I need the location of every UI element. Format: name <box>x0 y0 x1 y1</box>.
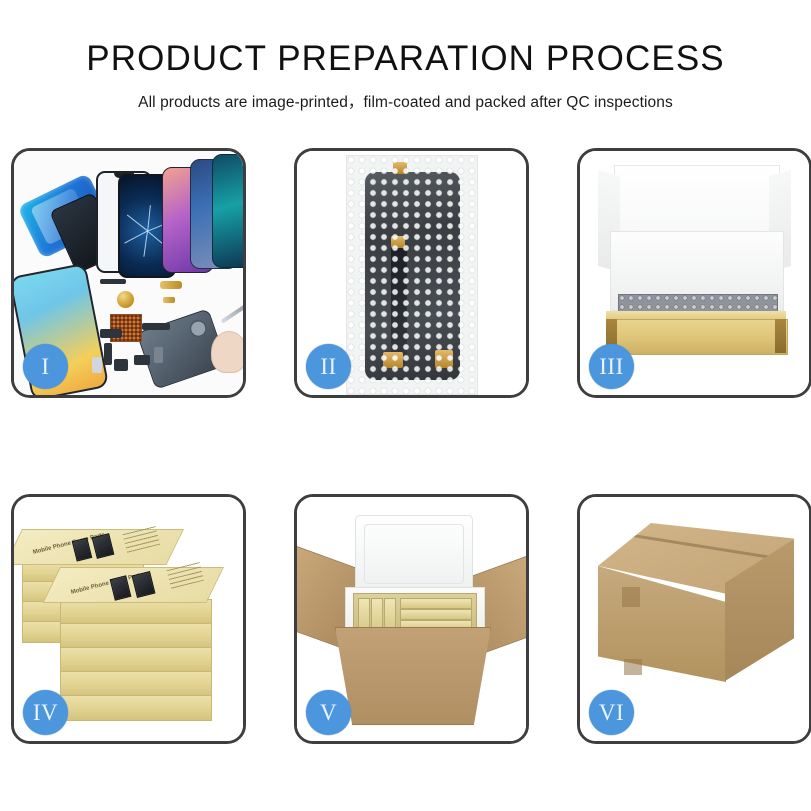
process-step-panel-3[interactable]: III <box>577 148 811 398</box>
small-part-ribbon <box>142 323 170 330</box>
step-badge-3: III <box>589 344 634 389</box>
carton-body <box>335 627 491 725</box>
small-part-speaker <box>114 359 128 371</box>
stacked-box-front-5 <box>60 671 212 697</box>
step-badge-2: II <box>306 344 351 389</box>
small-part-camera-module <box>100 329 122 338</box>
step-badge-6: VI <box>589 690 634 735</box>
gold-vibration-motor <box>117 291 134 308</box>
small-part-flex-cable <box>104 343 112 365</box>
teal-phone-display <box>212 154 243 268</box>
step-badge-5: V <box>306 690 351 735</box>
process-step-panel-6[interactable]: VI <box>577 494 811 744</box>
small-part-battery-connector <box>154 347 163 363</box>
gold-connector-lower-left <box>383 352 403 368</box>
page-title: PRODUCT PREPARATION PROCESS <box>0 41 811 78</box>
small-part-earpiece <box>100 279 126 284</box>
process-step-panel-4[interactable]: Mobile Phone Spare Parts Mobile Phone Sp… <box>11 494 246 744</box>
stacked-box-front-3 <box>60 623 212 649</box>
small-part-button <box>134 355 150 365</box>
small-part-sim-tray <box>92 357 102 373</box>
packed-box-5 <box>400 609 472 620</box>
gold-connector-mid <box>391 236 405 248</box>
process-step-panel-5[interactable]: V <box>294 494 529 744</box>
stacked-box-front-4 <box>60 647 212 673</box>
box-right-tab <box>775 319 786 353</box>
carton-tape-lower <box>624 659 642 675</box>
carton-tape-upper <box>622 587 640 607</box>
foam-box-lid <box>355 515 473 593</box>
small-part-gold-flex <box>160 281 182 289</box>
step-badge-4: IV <box>23 690 68 735</box>
gold-connector-lower-right <box>435 350 453 368</box>
wrapped-flex-cable <box>391 246 407 364</box>
bubble-wrap-bag <box>346 155 478 395</box>
process-step-grid: I II <box>11 148 800 744</box>
gold-connector-top <box>393 162 407 174</box>
step-badge-1: I <box>23 344 68 389</box>
wrapped-lcd-screen <box>365 172 460 380</box>
page-subtitle: All products are image-printed，film-coat… <box>0 90 811 112</box>
process-step-panel-2[interactable]: II <box>294 148 529 398</box>
page-header: PRODUCT PREPARATION PROCESS All products… <box>0 0 811 112</box>
process-step-panel-1[interactable]: I <box>11 148 246 398</box>
hand-holding-part <box>211 331 243 373</box>
packed-box-4 <box>400 598 472 609</box>
small-part-gold-clip <box>163 297 175 303</box>
stacked-box-front-6 <box>60 695 212 721</box>
yellow-box-front-panel <box>606 319 788 355</box>
